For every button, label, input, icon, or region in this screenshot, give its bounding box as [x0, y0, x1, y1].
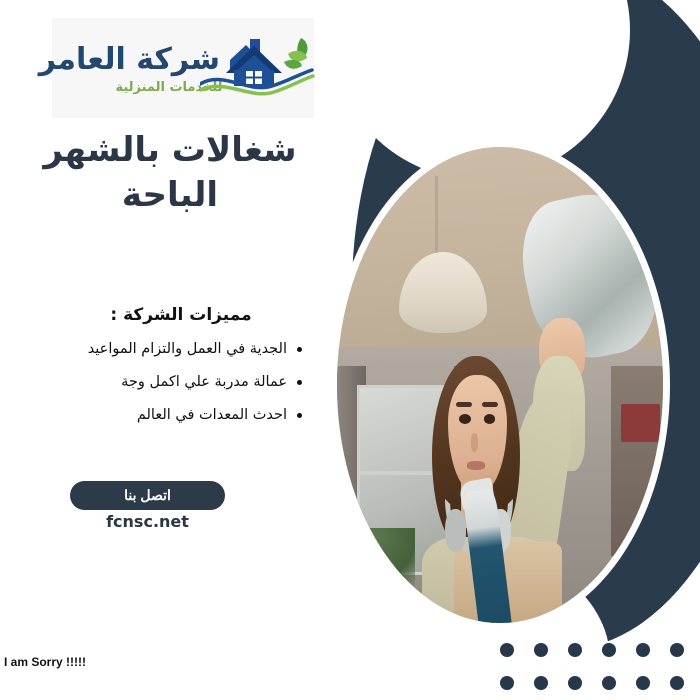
decor-dot — [500, 643, 514, 657]
photo-eyebrow-left — [456, 402, 472, 408]
decor-dot — [636, 643, 650, 657]
poster-canvas: شركة العامر للخدمات المنزلية — [0, 0, 700, 700]
cleaning-woman-photo — [337, 147, 663, 623]
bullet-icon — [297, 347, 302, 352]
contact-us-button[interactable]: اتصل بنا — [70, 481, 225, 510]
photo-eye-left — [459, 414, 471, 424]
contact-us-label: اتصل بنا — [124, 487, 171, 504]
feature-text: احدث المعدات في العالم — [137, 407, 287, 423]
features-section: مميزات الشركة : الجدية في العمل والتزام … — [60, 305, 310, 440]
list-item: احدث المعدات في العالم — [60, 407, 310, 423]
decor-dot — [568, 676, 582, 690]
features-title: مميزات الشركة : — [60, 305, 310, 325]
photo-shelf-item — [621, 404, 660, 442]
photo-shelf — [611, 366, 663, 556]
watermark-text: I am Sorry !!!!! — [4, 655, 86, 669]
photo-nose — [471, 433, 479, 452]
decor-dot — [534, 643, 548, 657]
feature-text: الجدية في العمل والتزام المواعيد — [88, 341, 287, 357]
house-with-leaves-icon — [200, 26, 315, 106]
decor-dot — [670, 643, 684, 657]
decor-dot — [602, 643, 616, 657]
photo-plant-pot — [357, 575, 403, 623]
photo-lips — [467, 461, 485, 470]
decor-dot — [568, 643, 582, 657]
page-title: شغالات بالشهر الباحة — [0, 128, 340, 218]
bullet-icon — [297, 380, 302, 385]
list-item: عمالة مدربة علي اكمل وجة — [60, 374, 310, 390]
logo-company-name: شركة العامر — [60, 42, 220, 77]
decor-dot — [670, 676, 684, 690]
photo-eyebrow-right — [482, 402, 498, 408]
company-logo: شركة العامر للخدمات المنزلية — [52, 18, 314, 118]
photo-lamp-cord — [435, 176, 438, 257]
headline-line-1: شغالات بالشهر — [0, 128, 340, 173]
photo-eye-right — [484, 414, 496, 424]
decor-dot — [534, 676, 548, 690]
decor-dot — [602, 676, 616, 690]
website-url[interactable]: fcnsc.net — [70, 512, 225, 531]
decor-dot — [636, 676, 650, 690]
photo-headphone-ear-left — [445, 509, 466, 552]
dot-grid-decoration — [500, 643, 700, 700]
feature-text: عمالة مدربة علي اكمل وجة — [121, 374, 287, 390]
list-item: الجدية في العمل والتزام المواعيد — [60, 341, 310, 357]
bullet-icon — [297, 413, 302, 418]
decor-dot — [500, 676, 514, 690]
headline-line-2: الباحة — [0, 173, 340, 218]
